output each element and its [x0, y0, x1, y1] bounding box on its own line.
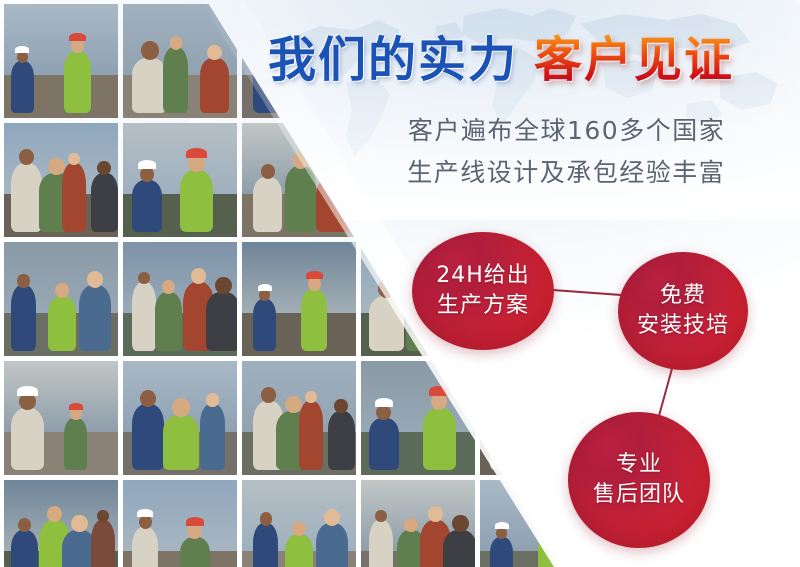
photo-person-head — [87, 271, 103, 288]
photo-person-head — [140, 390, 156, 407]
photo-person — [200, 404, 225, 470]
photo-person-head — [17, 51, 28, 63]
photo-person — [155, 292, 182, 351]
collage-photo — [123, 123, 237, 237]
photo-person — [64, 51, 90, 114]
photo-person — [285, 534, 314, 567]
photo-person — [11, 530, 38, 567]
photo-person — [490, 537, 513, 567]
photo-person — [91, 173, 118, 232]
collage-photo — [123, 242, 237, 356]
photo-person — [206, 292, 237, 351]
photo-person — [11, 163, 42, 233]
photo-person-head — [97, 510, 109, 523]
photo-person-head — [305, 391, 317, 404]
photo-person — [64, 418, 87, 470]
promo-banner: 我们的实力客户见证 客户遍布全球160多个国家 生产线设计及承包经验丰富 24H… — [0, 0, 800, 567]
photo-person — [132, 527, 158, 567]
photo-person-head — [70, 408, 81, 420]
collage-photo — [242, 242, 356, 356]
photo-hard-hat-icon — [186, 148, 207, 158]
photo-person — [132, 58, 167, 114]
photo-person-head — [17, 274, 30, 287]
photo-person-head — [206, 393, 219, 406]
photo-person — [180, 537, 210, 567]
photo-person-head — [207, 45, 221, 60]
photo-person-head — [139, 515, 152, 529]
photo-person — [62, 163, 86, 233]
photo-person — [301, 289, 327, 352]
photo-hard-hat-icon — [495, 522, 509, 529]
photo-person-head — [452, 515, 469, 533]
photo-hard-hat-icon — [69, 403, 83, 410]
photo-person — [253, 299, 276, 351]
photo-person — [328, 411, 355, 470]
photo-hard-hat-icon — [306, 271, 322, 279]
page-title: 我们的实力客户见证 — [268, 36, 734, 84]
photo-person — [369, 418, 399, 470]
photo-person — [253, 523, 278, 567]
collage-photo — [4, 4, 118, 118]
badge-professional-after-sales-line-2: 售后团队 — [593, 480, 685, 510]
photo-person-head — [215, 277, 232, 295]
photo-person — [443, 530, 475, 567]
collage-photo — [242, 361, 356, 475]
badge-professional-after-sales[interactable]: 专业 售后团队 — [568, 412, 710, 548]
photo-person — [11, 285, 36, 351]
collage-photo — [361, 480, 475, 567]
photo-person-head — [261, 164, 275, 179]
photo-person-head — [260, 512, 273, 525]
photo-person — [369, 520, 393, 567]
photo-person — [180, 170, 213, 233]
collage-photo — [4, 361, 118, 475]
badge-free-installation-training[interactable]: 免费 安装技培 — [618, 252, 748, 370]
photo-hard-hat-icon — [15, 46, 29, 53]
subtitle-line-1: 客户遍布全球160多个国家 — [408, 110, 725, 152]
photo-hard-hat-icon — [429, 386, 450, 396]
collage-photo — [242, 480, 356, 567]
badge-free-installation-training-line-1: 免费 — [660, 281, 706, 311]
photo-person — [200, 58, 229, 114]
photo-hard-hat-icon — [138, 160, 157, 169]
photo-person — [91, 520, 115, 567]
badge-free-installation-training-line-2: 安装技培 — [637, 311, 729, 341]
collage-photo — [4, 480, 118, 567]
photo-person-head — [375, 510, 387, 523]
photo-person — [11, 61, 34, 113]
collage-photo — [123, 480, 237, 567]
headline-blue: 我们的实力 — [268, 32, 518, 88]
collage-photo — [4, 242, 118, 356]
photo-hard-hat-icon — [17, 386, 38, 396]
photo-person-head — [71, 515, 88, 533]
badge-24h-solution-line-1: 24H给出 — [436, 261, 530, 291]
photo-person — [11, 408, 44, 471]
subtitle: 客户遍布全球160多个国家 生产线设计及承包经验丰富 — [408, 110, 725, 194]
photo-person — [163, 47, 188, 113]
photo-person — [79, 285, 111, 351]
photo-person — [132, 180, 162, 232]
photo-person — [132, 282, 156, 352]
photo-person — [132, 404, 164, 470]
photo-person-head — [19, 149, 34, 165]
photo-person-head — [170, 36, 183, 49]
photo-hard-hat-icon — [69, 33, 85, 41]
photo-person — [316, 523, 348, 567]
badge-professional-after-sales-line-1: 专业 — [616, 450, 662, 480]
photo-person-head — [138, 272, 150, 285]
photo-person — [163, 415, 198, 471]
photo-person-head — [308, 277, 321, 291]
photo-person — [423, 408, 456, 471]
collage-photo — [123, 361, 237, 475]
collage-photo — [4, 123, 118, 237]
headline-red: 客户见证 — [534, 32, 734, 88]
photo-person — [285, 166, 317, 232]
badge-24h-solution[interactable]: 24H给出 生产方案 — [412, 232, 554, 350]
badge-24h-solution-line-2: 生产方案 — [437, 291, 529, 321]
photo-hard-hat-icon — [186, 517, 205, 526]
photo-person — [299, 401, 323, 471]
photo-person-head — [324, 509, 340, 526]
photo-person — [253, 177, 282, 233]
photo-hard-hat-icon — [258, 284, 272, 291]
photo-person-head — [292, 521, 306, 536]
photo-person-head — [141, 41, 159, 60]
photo-person — [48, 296, 77, 352]
photo-person-head — [55, 283, 69, 298]
photo-hard-hat-icon — [375, 398, 394, 407]
photo-person-head — [71, 39, 84, 53]
photo-hard-hat-icon — [137, 509, 153, 517]
photo-person-head — [172, 398, 190, 417]
subtitle-line-2: 生产线设计及承包经验丰富 — [394, 152, 725, 194]
